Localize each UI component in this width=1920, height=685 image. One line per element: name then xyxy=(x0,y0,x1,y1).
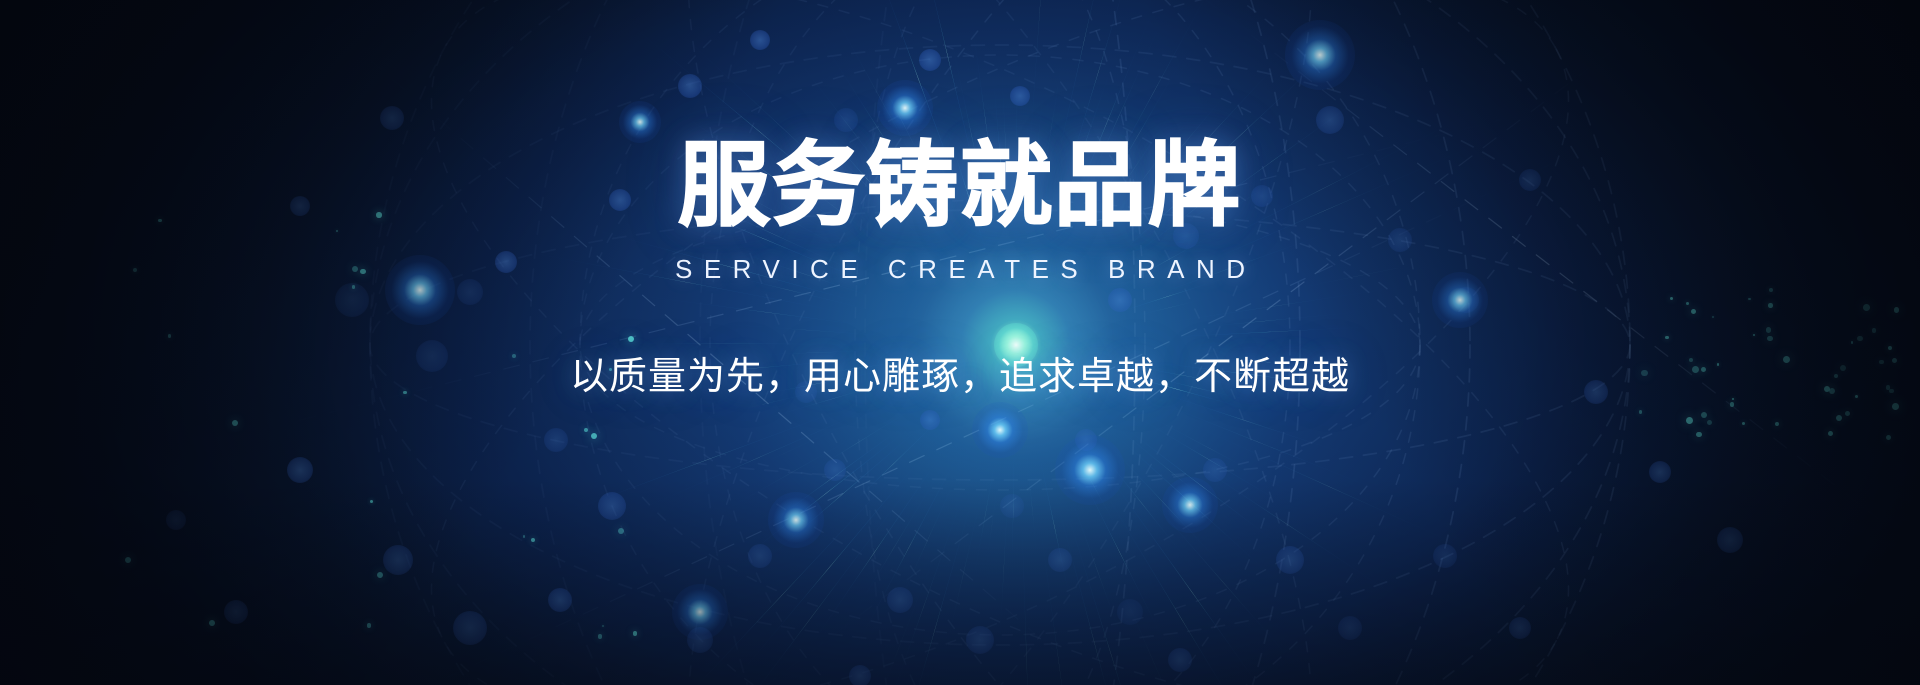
banner-tagline: 以质量为先，用心雕琢，追求卓越，不断超越 xyxy=(570,345,1350,400)
hero-banner: 服务铸就品牌 SERVICE CREATES BRAND 以质量为先，用心雕琢，… xyxy=(0,0,1920,685)
banner-headline: 服务铸就品牌 xyxy=(678,140,1242,232)
banner-content: 服务铸就品牌 SERVICE CREATES BRAND 以质量为先，用心雕琢，… xyxy=(0,0,1920,685)
banner-subtitle: SERVICE CREATES BRAND xyxy=(663,254,1256,285)
